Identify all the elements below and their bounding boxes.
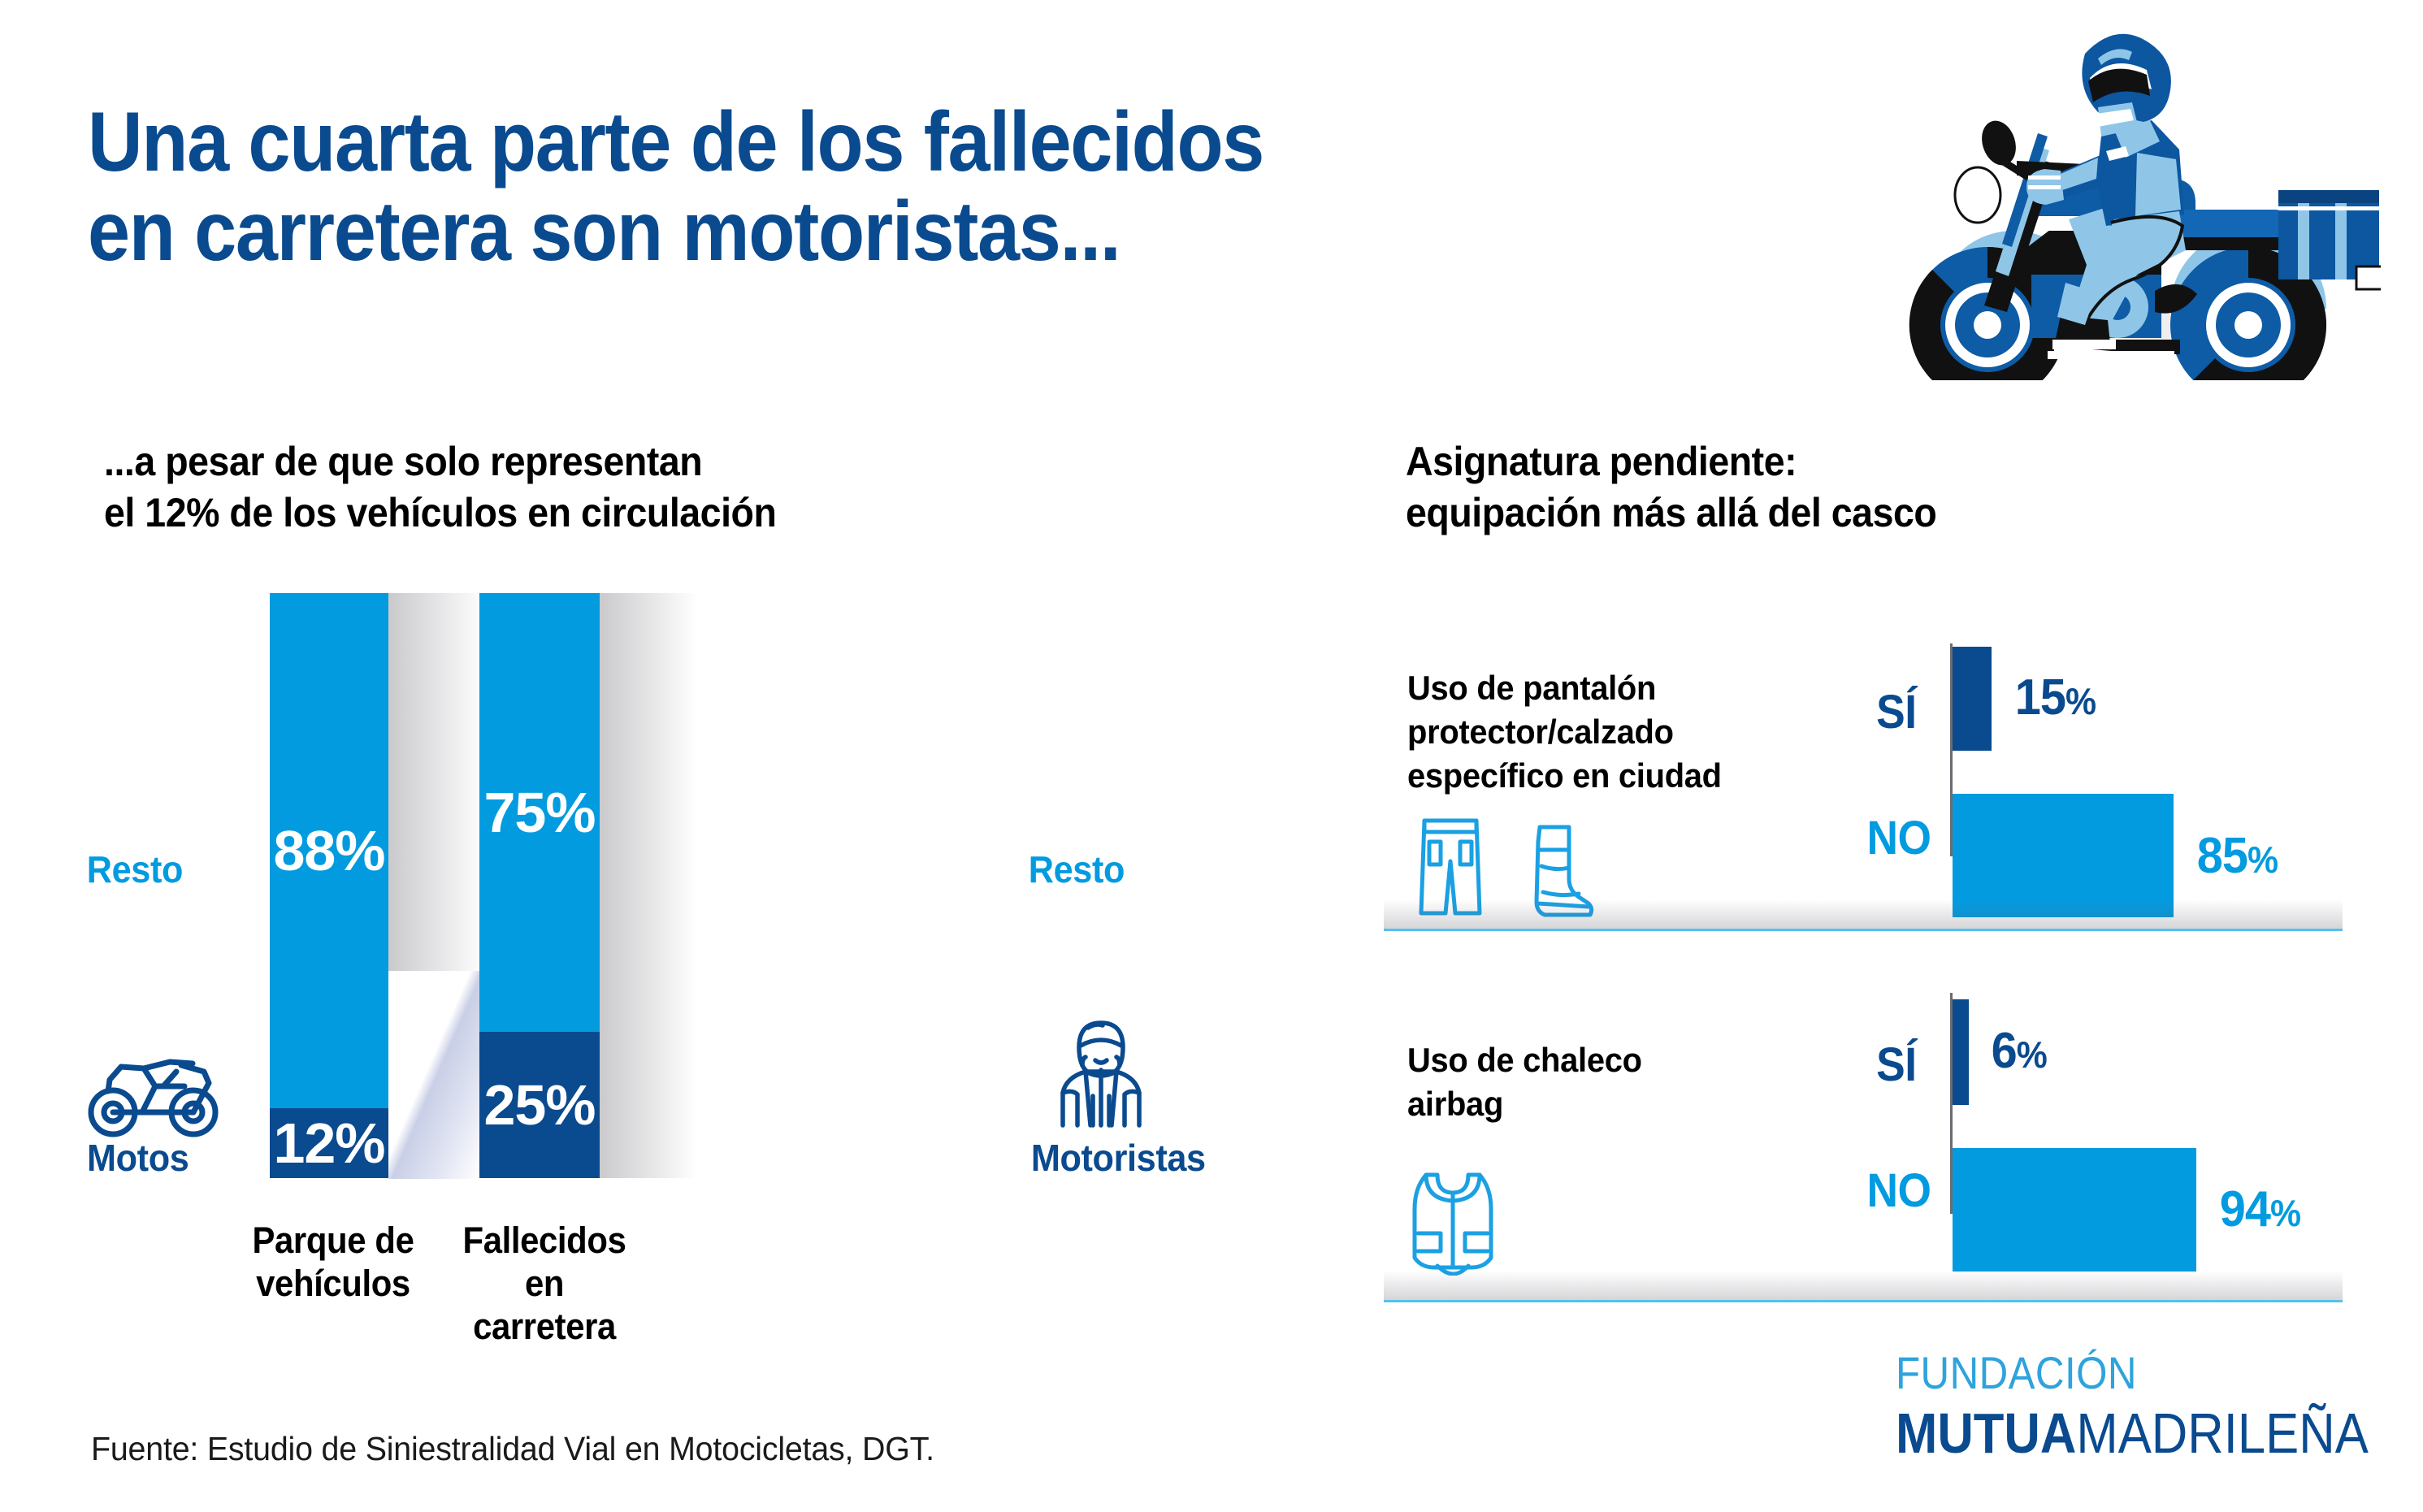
bar-segment-resto-parque: 88% [270, 593, 388, 1108]
question-pantalon-line-3: específico en ciudad [1407, 754, 1722, 798]
hbar-value-si-chaleco: 6% [1992, 1022, 2047, 1080]
hbar-value-no-pantalon-number: 85 [2197, 828, 2247, 884]
hbar-no-chaleco [1953, 1148, 2196, 1272]
brand-logo-madrilena: MADRILEÑA [2076, 1402, 2368, 1465]
hbar-value-no-pantalon: 85% [2197, 827, 2278, 885]
page-title-line-1: Una cuarta parte de los fallecidos [88, 97, 1733, 187]
axis-label-fallecidos-line-2: en carretera [473, 1263, 616, 1347]
axis-label-fallecidos-line-1: Fallecidos [463, 1220, 626, 1261]
question-label-chaleco-airbag: Uso de chaleco airbag [1407, 1038, 1642, 1126]
percent-sign: % [2247, 838, 2278, 881]
bar-value-resto-fallecidos: 75% [483, 780, 595, 845]
axis-label-fallecidos-carretera: Fallecidos en carretera [450, 1219, 639, 1348]
question-pantalon-line-2: protector/calzado [1407, 710, 1722, 754]
question-chaleco-line-2: airbag [1407, 1082, 1642, 1126]
axis-label-parque-line-2: vehículos [256, 1263, 410, 1304]
hbar-value-no-chaleco-number: 94 [2220, 1181, 2270, 1237]
answer-label-no-pantalon: NO [1866, 811, 1931, 865]
bar-drop-shadow [600, 593, 697, 1178]
brand-logo-line-1: FUNDACIÓN [1896, 1346, 2310, 1399]
percent-sign: % [2017, 1033, 2047, 1076]
question-pantalon-line-1: Uso de pantalón [1407, 666, 1722, 710]
left-chart-subtitle-line-1: ...a pesar de que solo representan [104, 436, 776, 487]
left-chart-subtitle: ...a pesar de que solo representan el 12… [104, 436, 776, 539]
airbag-vest-icon [1408, 1170, 1498, 1280]
hbar-si-pantalon [1953, 647, 1992, 751]
right-chart-subtitle-line-2: equipación más allá del casco [1406, 487, 1936, 539]
right-chart-subtitle: Asignatura pendiente: equipación más all… [1406, 436, 1936, 539]
section-divider [1384, 929, 2343, 931]
percent-sign: % [2270, 1192, 2300, 1234]
question-label-pantalon-calzado: Uso de pantalón protector/calzado especí… [1407, 666, 1722, 797]
bar-segment-motos-parque: 12% [270, 1108, 388, 1178]
legend-label-resto-left: Resto [87, 847, 183, 891]
motorcycle-rider-illustration [1893, 6, 2381, 380]
percent-sign: % [2065, 680, 2096, 722]
bar-segment-resto-fallecidos: 75% [479, 593, 600, 1032]
hbar-value-si-pantalon-number: 15 [2015, 669, 2065, 726]
answer-label-si-chaleco: SÍ [1876, 1038, 1917, 1092]
answer-label-no-chaleco: NO [1866, 1163, 1931, 1218]
legend-label-motos: Motos [87, 1136, 189, 1180]
stacked-bar-fallecidos-carretera: 75% 25% [479, 593, 600, 1178]
brand-logo-mutua: MUTUA [1896, 1402, 2076, 1465]
page-title-line-2: en carretera son motoristas... [88, 187, 1733, 276]
bar-drop-shadow [388, 593, 486, 1178]
brand-logo-line-2: MUTUAMADRILEÑA [1896, 1401, 2310, 1466]
answer-label-si-pantalon: SÍ [1876, 685, 1917, 739]
right-chart-subtitle-line-1: Asignatura pendiente: [1406, 436, 1936, 487]
source-note: Fuente: Estudio de Siniestralidad Vial e… [91, 1430, 934, 1468]
motorcyclist-icon [1048, 1012, 1154, 1137]
legend-label-resto-right: Resto [1029, 847, 1125, 891]
axis-label-parque-vehiculos: Parque de vehículos [239, 1219, 428, 1305]
page-title: Una cuarta parte de los fallecidos en ca… [88, 97, 1733, 276]
left-chart-subtitle-line-2: el 12% de los vehículos en circulación [104, 487, 776, 539]
legend-label-motoristas: Motoristas [1031, 1136, 1206, 1180]
motorcycle-icon [85, 1044, 223, 1146]
hbar-si-chaleco [1953, 999, 1969, 1105]
connector-gradient [388, 971, 479, 1179]
bar-value-motoristas-fallecidos: 25% [483, 1072, 595, 1137]
hbar-value-si-pantalon: 15% [2015, 669, 2096, 726]
section-divider [1384, 1300, 2343, 1302]
hbar-value-no-chaleco: 94% [2220, 1181, 2300, 1238]
question-chaleco-line-1: Uso de chaleco [1407, 1038, 1642, 1082]
bar-value-resto-parque: 88% [273, 818, 384, 883]
bar-value-motos-parque: 12% [273, 1111, 384, 1176]
bar-segment-motoristas-fallecidos: 25% [479, 1032, 600, 1178]
brand-logo-fundacion-mutua-madrilena: FUNDACIÓN MUTUAMADRILEÑA [1896, 1346, 2367, 1466]
stacked-bar-parque-vehiculos: 88% 12% [270, 593, 388, 1178]
axis-label-parque-line-1: Parque de [252, 1220, 414, 1261]
hbar-value-si-chaleco-number: 6 [1992, 1023, 2017, 1079]
